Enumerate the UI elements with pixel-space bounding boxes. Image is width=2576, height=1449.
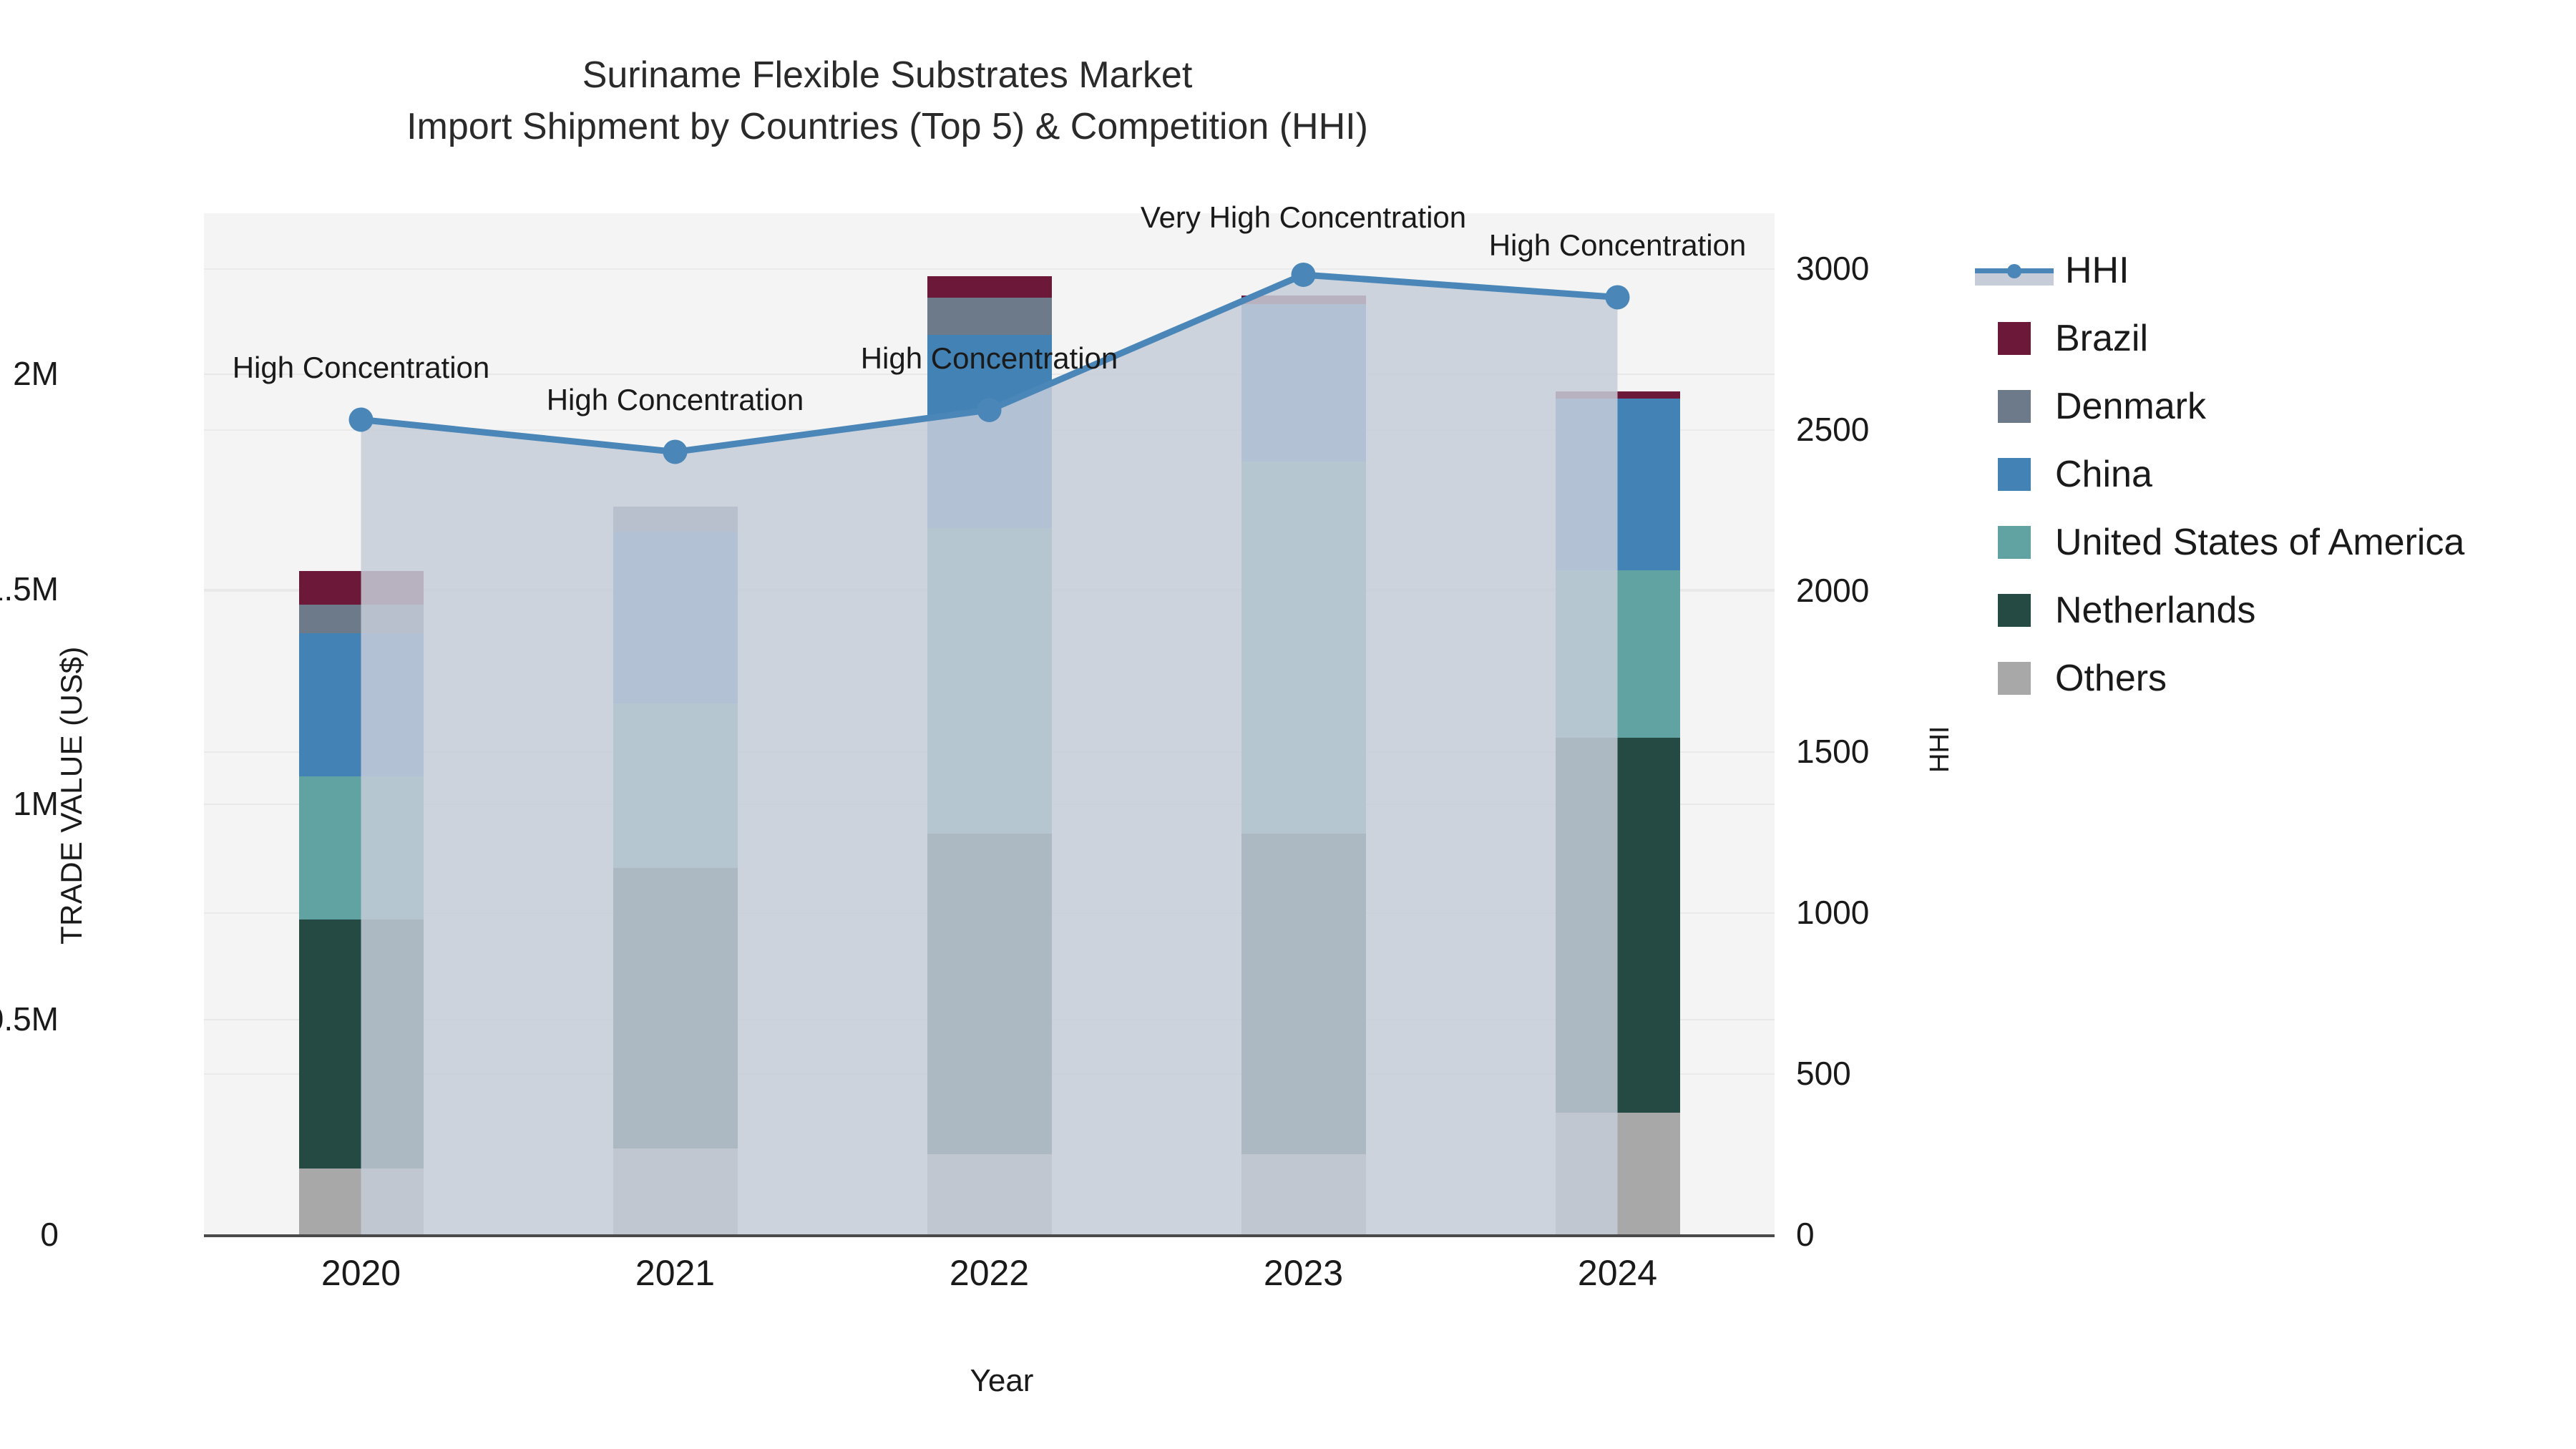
x-axis-label: Year bbox=[970, 1363, 1034, 1399]
y-tick-right: 0 bbox=[1796, 1215, 1815, 1254]
legend-swatch bbox=[1998, 322, 2031, 355]
bar-segment[interactable] bbox=[927, 528, 1052, 834]
bar-segment[interactable] bbox=[1556, 570, 1680, 738]
y-tick-right: 2000 bbox=[1796, 571, 1869, 610]
legend-label: Denmark bbox=[2055, 385, 2206, 428]
legend-item[interactable]: Others bbox=[1975, 644, 2464, 712]
legend-item[interactable]: Netherlands bbox=[1975, 576, 2464, 644]
bar-segment[interactable] bbox=[927, 834, 1052, 1154]
chart-title: Suriname Flexible Substrates Market Impo… bbox=[0, 50, 1775, 153]
y-tick-left: 2M bbox=[13, 354, 59, 393]
bar-segment[interactable] bbox=[1556, 738, 1680, 1112]
legend-line-icon bbox=[1975, 254, 2054, 287]
bar-segment[interactable] bbox=[299, 919, 424, 1169]
bar-segment[interactable] bbox=[1241, 462, 1366, 834]
bar-segment[interactable] bbox=[1241, 834, 1366, 1154]
bar-segment[interactable] bbox=[299, 1169, 424, 1234]
concentration-label: High Concentration bbox=[547, 383, 804, 417]
legend-swatch bbox=[1998, 594, 2031, 627]
bar-segment[interactable] bbox=[1556, 1113, 1680, 1234]
legend-item[interactable]: China bbox=[1975, 440, 2464, 508]
y-tick-left: 0.5M bbox=[0, 1000, 59, 1038]
y-axis-label-left: TRADE VALUE (US$) bbox=[54, 646, 89, 945]
legend-label: Netherlands bbox=[2055, 589, 2255, 632]
bar-group[interactable] bbox=[1241, 213, 1366, 1234]
x-tick: 2021 bbox=[635, 1252, 715, 1294]
bar-segment[interactable] bbox=[299, 605, 424, 633]
y-tick-right: 2500 bbox=[1796, 410, 1869, 449]
x-tick: 2024 bbox=[1578, 1252, 1657, 1294]
legend: HHIBrazilDenmarkChinaUnited States of Am… bbox=[1975, 236, 2464, 712]
bar-segment[interactable] bbox=[1556, 391, 1680, 399]
bar-segment[interactable] bbox=[613, 1148, 738, 1234]
bar-segment[interactable] bbox=[299, 571, 424, 605]
bar-segment[interactable] bbox=[1556, 399, 1680, 570]
concentration-label: High Concentration bbox=[861, 341, 1118, 376]
y-axis-label-right: HHI bbox=[1925, 726, 1956, 773]
y-tick-right: 3000 bbox=[1796, 249, 1869, 288]
x-tick: 2020 bbox=[321, 1252, 401, 1294]
y-tick-left: 0 bbox=[40, 1215, 59, 1254]
bar-segment[interactable] bbox=[1241, 1154, 1366, 1234]
bar-segment[interactable] bbox=[613, 507, 738, 532]
y-tick-left: 1.5M bbox=[0, 570, 59, 608]
x-tick: 2023 bbox=[1264, 1252, 1343, 1294]
legend-swatch bbox=[1998, 526, 2031, 559]
legend-item[interactable]: Denmark bbox=[1975, 372, 2464, 440]
x-tick: 2022 bbox=[950, 1252, 1029, 1294]
legend-swatch bbox=[1998, 662, 2031, 695]
y-tick-right: 500 bbox=[1796, 1054, 1851, 1093]
bar-group[interactable] bbox=[613, 213, 738, 1234]
y-tick-right: 1000 bbox=[1796, 893, 1869, 932]
bar-segment[interactable] bbox=[927, 298, 1052, 335]
bar-segment[interactable] bbox=[927, 1154, 1052, 1234]
bar-segment[interactable] bbox=[927, 276, 1052, 298]
chart-root: Suriname Flexible Substrates Market Impo… bbox=[0, 0, 2576, 1449]
legend-label: Others bbox=[2055, 657, 2167, 700]
legend-item[interactable]: HHI bbox=[1975, 236, 2464, 304]
bar-segment[interactable] bbox=[613, 868, 738, 1148]
concentration-label: High Concentration bbox=[233, 351, 490, 385]
bar-segment[interactable] bbox=[613, 532, 738, 703]
bar-group[interactable] bbox=[1556, 213, 1680, 1234]
legend-label: Brazil bbox=[2055, 317, 2148, 360]
legend-label: United States of America bbox=[2055, 521, 2464, 564]
bar-segment[interactable] bbox=[299, 776, 424, 919]
legend-item[interactable]: Brazil bbox=[1975, 304, 2464, 372]
concentration-label: High Concentration bbox=[1489, 228, 1747, 263]
legend-label: China bbox=[2055, 453, 2152, 496]
legend-item[interactable]: United States of America bbox=[1975, 508, 2464, 576]
title-line-1: Suriname Flexible Substrates Market bbox=[0, 50, 1775, 102]
bar-segment[interactable] bbox=[1241, 296, 1366, 304]
legend-swatch bbox=[1998, 390, 2031, 423]
y-tick-left: 1M bbox=[13, 784, 59, 823]
bar-segment[interactable] bbox=[613, 703, 738, 868]
y-tick-right: 1500 bbox=[1796, 732, 1869, 771]
concentration-label: Very High Concentration bbox=[1141, 200, 1466, 235]
bar-segment[interactable] bbox=[1241, 304, 1366, 462]
bar-segment[interactable] bbox=[299, 633, 424, 776]
title-line-2: Import Shipment by Countries (Top 5) & C… bbox=[0, 102, 1775, 153]
legend-label: HHI bbox=[2065, 249, 2129, 292]
legend-swatch bbox=[1998, 458, 2031, 491]
x-axis-line bbox=[204, 1234, 1775, 1237]
